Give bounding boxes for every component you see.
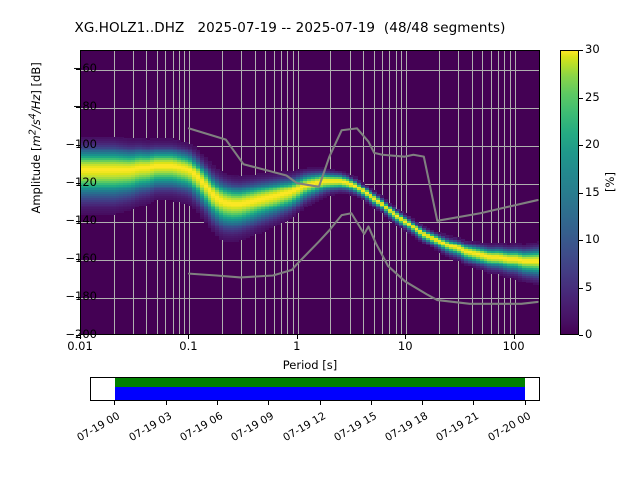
y-axis-tick-mark bbox=[76, 69, 80, 70]
y-axis-tick-mark bbox=[76, 259, 80, 260]
x-axis-tick-mark bbox=[188, 335, 189, 339]
colorbar-tick-label: 30 bbox=[585, 42, 625, 56]
x-axis-tick-label: 100 bbox=[484, 339, 544, 353]
timeline-tick-label: 07-19 12 bbox=[268, 410, 328, 451]
timeline-tick-mark bbox=[371, 401, 372, 405]
timeline-tick-mark bbox=[320, 401, 321, 405]
x-axis-tick-mark bbox=[80, 335, 81, 339]
colorbar-tick-mark bbox=[579, 98, 583, 99]
x-axis-tick-label: 0.1 bbox=[158, 339, 218, 353]
colorbar-tick-mark bbox=[579, 193, 583, 194]
timeline-tick-mark bbox=[114, 401, 115, 405]
x-axis-label: Period [s] bbox=[80, 358, 540, 372]
timeline-tick-mark bbox=[166, 401, 167, 405]
colorbar-label: [%] bbox=[603, 147, 617, 217]
timeline-tick-label: 07-19 18 bbox=[370, 410, 430, 451]
timeline-tick-label: 07-19 06 bbox=[165, 410, 225, 451]
x-axis-tick-mark bbox=[297, 335, 298, 339]
ppsd-figure: XG.HOLZ1..DHZ 2025-07-19 -- 2025-07-19 (… bbox=[0, 0, 640, 480]
y-axis-tick-mark bbox=[76, 145, 80, 146]
timeline-tick-label: 07-19 21 bbox=[422, 410, 482, 451]
timeline-tick-mark bbox=[473, 401, 474, 405]
timeline-axes bbox=[90, 377, 540, 401]
colorbar-tick-label: 0 bbox=[585, 327, 625, 341]
nhnm-line bbox=[189, 128, 538, 220]
x-axis-tick-mark bbox=[514, 335, 515, 339]
y-axis-tick-label: −120 bbox=[37, 175, 97, 189]
colorbar-tick-label: 5 bbox=[585, 280, 625, 294]
y-axis-tick-label: −100 bbox=[37, 137, 97, 151]
y-axis-tick-mark bbox=[76, 221, 80, 222]
x-axis-tick-label: 10 bbox=[375, 339, 435, 353]
x-axis-tick-mark bbox=[405, 335, 406, 339]
timeline-tick-mark bbox=[422, 401, 423, 405]
y-axis-tick-label: −80 bbox=[37, 99, 97, 113]
colorbar-tick-mark bbox=[579, 240, 583, 241]
x-axis-tick-label: 0.01 bbox=[50, 339, 110, 353]
timeline-tick-label: 07-20 00 bbox=[473, 410, 533, 451]
timeline-tick-mark bbox=[525, 401, 526, 405]
x-axis-tick-label: 1 bbox=[267, 339, 327, 353]
colorbar-tick-mark bbox=[579, 335, 583, 336]
timeline-tick-label: 07-19 00 bbox=[63, 410, 123, 451]
timeline-tick-label: 07-19 15 bbox=[319, 410, 379, 451]
nlnm-line bbox=[189, 213, 538, 304]
y-axis-tick-label: −180 bbox=[37, 289, 97, 303]
data-coverage-blue bbox=[115, 387, 525, 400]
colorbar-tick-mark bbox=[579, 288, 583, 289]
y-axis-tick-label: −160 bbox=[37, 251, 97, 265]
ppsd-axes bbox=[80, 50, 540, 335]
y-axis-label: Amplitude [m2/s4/Hz] [dB] bbox=[27, 8, 43, 268]
colorbar-tick-label: 10 bbox=[585, 232, 625, 246]
colorbar-tick-label: 25 bbox=[585, 90, 625, 104]
colorbar-tick-mark bbox=[579, 145, 583, 146]
timeline-tick-label: 07-19 03 bbox=[114, 410, 174, 451]
y-axis-tick-label: −140 bbox=[37, 213, 97, 227]
timeline-tick-mark bbox=[268, 401, 269, 405]
y-axis-tick-mark bbox=[76, 183, 80, 184]
noise-model-layer bbox=[81, 51, 539, 334]
colorbar-tick-mark bbox=[579, 50, 583, 51]
colorbar bbox=[560, 50, 579, 335]
y-axis-tick-mark bbox=[76, 297, 80, 298]
timeline-tick-mark bbox=[217, 401, 218, 405]
y-axis-tick-mark bbox=[76, 107, 80, 108]
data-coverage-green bbox=[115, 378, 525, 387]
page-title: XG.HOLZ1..DHZ 2025-07-19 -- 2025-07-19 (… bbox=[0, 20, 580, 36]
timeline-tick-label: 07-19 09 bbox=[216, 410, 276, 451]
y-axis-tick-label: −60 bbox=[37, 61, 97, 75]
